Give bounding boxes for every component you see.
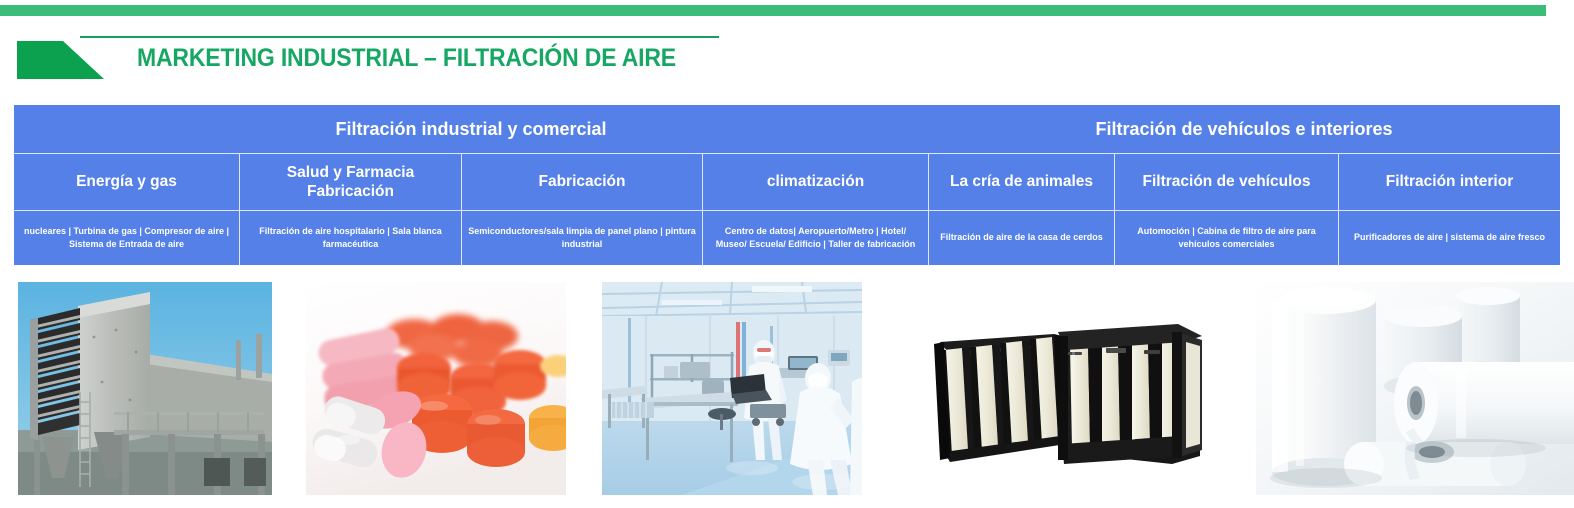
column-detail-indoor-filtration: Purificadores de aire | sistema de aire … bbox=[1338, 210, 1560, 265]
green-trapezoid-logo-icon bbox=[17, 41, 104, 79]
column-header-indoor-filtration: Filtración interior bbox=[1338, 153, 1560, 210]
column-header-energy-gas: Energía y gas bbox=[14, 153, 239, 210]
matrix-detail-row: nucleares | Turbina de gas | Compresor d… bbox=[14, 210, 1560, 265]
column-detail-energy-gas: nucleares | Turbina de gas | Compresor d… bbox=[14, 210, 239, 265]
column-detail-hvac: Centro de datos| Aeropuerto/Metro | Hote… bbox=[702, 210, 928, 265]
page-title: MARKETING INDUSTRIAL – FILTRACIÓN DE AIR… bbox=[137, 44, 676, 73]
air-intake-filter-house-photo bbox=[18, 282, 272, 495]
column-detail-manufacturing: Semiconductores/sala limpia de panel pla… bbox=[461, 210, 702, 265]
filter-media-rolls-photo bbox=[1256, 282, 1574, 495]
application-photo-strip bbox=[0, 270, 1574, 508]
top-accent-bar bbox=[0, 5, 1546, 16]
column-header-hvac: climatización bbox=[702, 153, 928, 210]
column-header-health-pharma: Salud y Farmacia Fabricación bbox=[239, 153, 461, 210]
application-matrix-table: Filtración industrial y comercial Filtra… bbox=[14, 105, 1560, 265]
slide-root: MARKETING INDUSTRIAL – FILTRACIÓN DE AIR… bbox=[0, 0, 1574, 508]
column-header-vehicle-filtration: Filtración de vehículos bbox=[1114, 153, 1338, 210]
group-header-industrial-commercial: Filtración industrial y comercial bbox=[14, 105, 928, 153]
v-bank-rigid-filters-photo bbox=[910, 292, 1210, 484]
title-underline-rule bbox=[80, 36, 719, 38]
matrix-group-header-row: Filtración industrial y comercial Filtra… bbox=[14, 105, 1560, 153]
cleanroom-technicians-photo bbox=[602, 282, 862, 495]
group-header-vehicle-indoor: Filtración de vehículos e interiores bbox=[928, 105, 1560, 153]
column-detail-vehicle-filtration: Automoción | Cabina de filtro de aire pa… bbox=[1114, 210, 1338, 265]
column-header-manufacturing: Fabricación bbox=[461, 153, 702, 210]
pharmaceutical-pills-photo bbox=[306, 282, 566, 495]
column-detail-animal-husbandry: Filtración de aire de la casa de cerdos bbox=[928, 210, 1114, 265]
column-header-animal-husbandry: La cría de animales bbox=[928, 153, 1114, 210]
column-detail-health-pharma: Filtración de aire hospitalario | Sala b… bbox=[239, 210, 461, 265]
matrix-column-header-row: Energía y gas Salud y Farmacia Fabricaci… bbox=[14, 153, 1560, 210]
